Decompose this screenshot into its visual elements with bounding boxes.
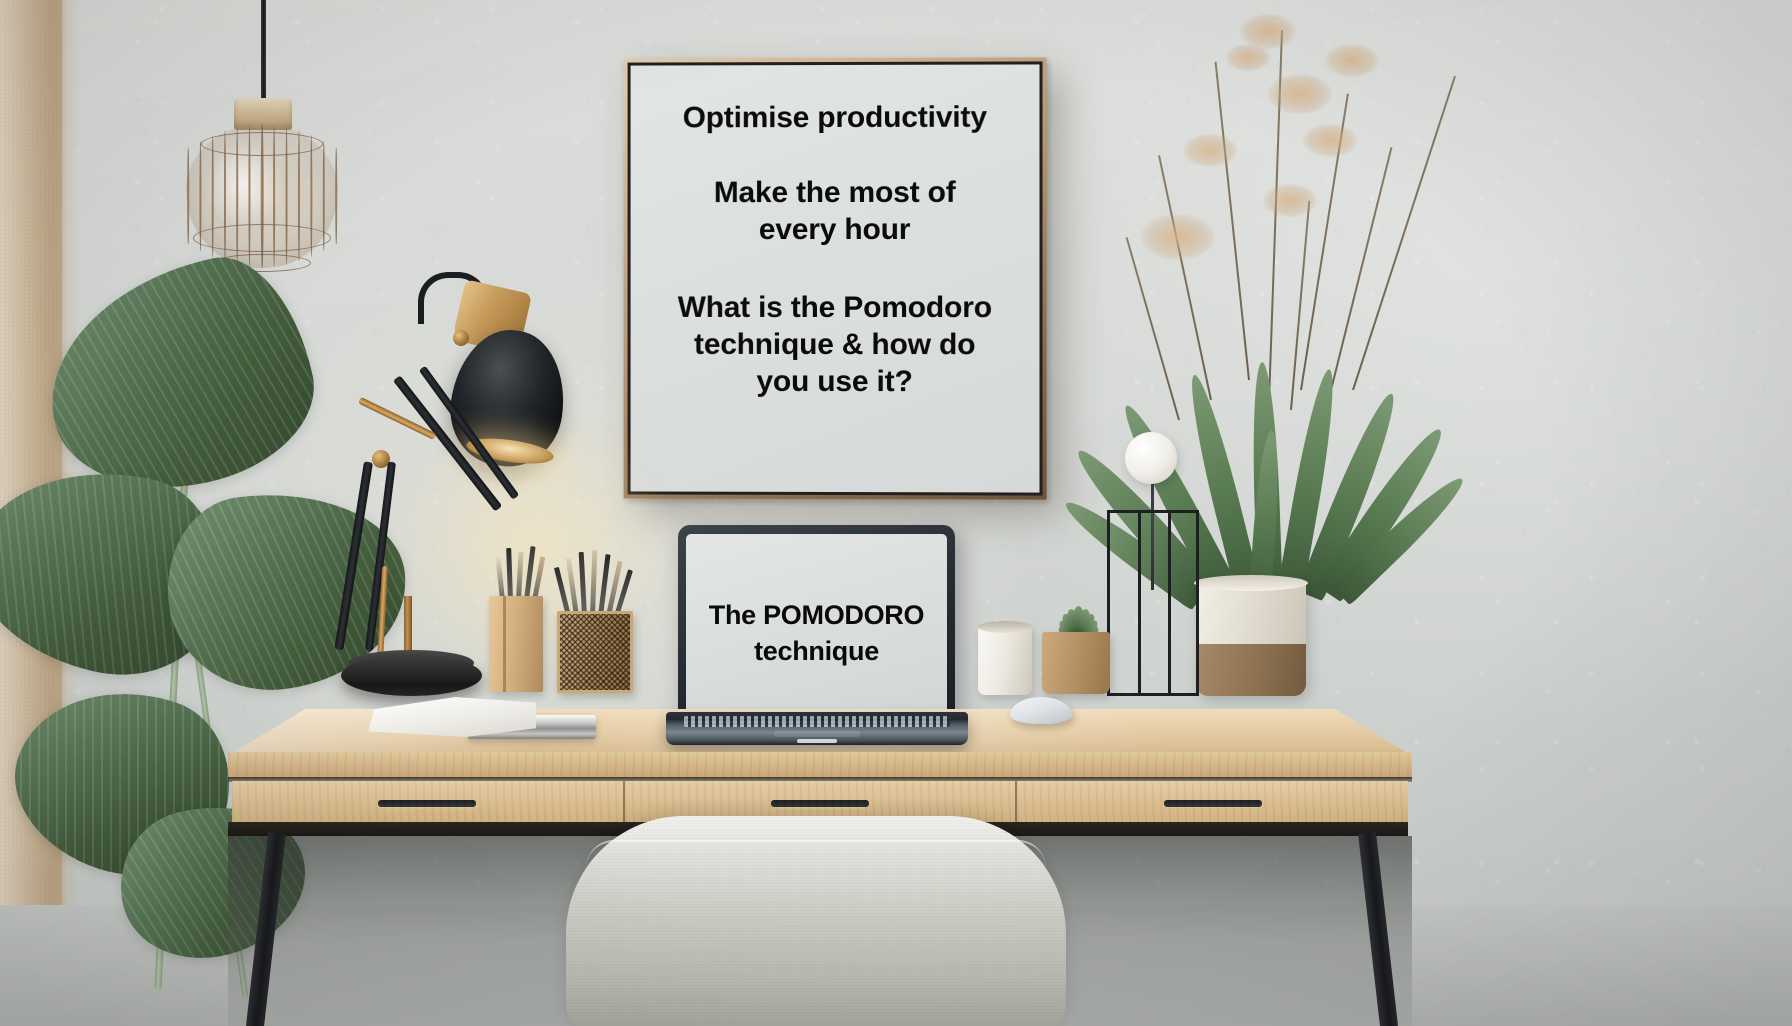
poster-face: Optimise productivity Make the most of e…: [631, 64, 1040, 492]
desk-front-edge: [228, 752, 1412, 778]
desk-lamp-joint: [453, 330, 469, 346]
laptop-trackpad[interactable]: [774, 731, 860, 737]
laptop-front-notch: [797, 739, 837, 743]
poster-line-4: What is the Pomodoro: [678, 289, 992, 326]
wire-frame-bar: [1138, 513, 1141, 693]
poster-line-1: Optimise productivity: [683, 99, 987, 137]
drawer-handle-icon[interactable]: [771, 800, 869, 807]
chair-seam: [586, 840, 1046, 868]
black-wire-geometric-frame: [1107, 510, 1199, 696]
framed-wall-poster[interactable]: Optimise productivity Make the most of e…: [624, 57, 1047, 499]
drawer-handle-icon[interactable]: [378, 800, 476, 807]
laptop-base[interactable]: [666, 712, 968, 745]
laptop-keyboard[interactable]: [684, 716, 950, 727]
pampas-plume: [1240, 14, 1296, 49]
pampas-plume: [1141, 214, 1215, 260]
mug-rim: [978, 621, 1032, 633]
white-ceramic-mug: [978, 625, 1032, 695]
pen-holder-groove: [503, 596, 506, 692]
pendant-cage-rib: [187, 148, 189, 243]
desk-drawer-right[interactable]: [1017, 781, 1408, 823]
wooden-pen-holder: [489, 596, 543, 692]
notebook-cloth-cover: [368, 697, 536, 737]
poster-line-2: Make the most of: [714, 174, 956, 211]
poster-line-5: technique & how do: [694, 326, 975, 363]
poster-line-6: you use it?: [757, 363, 913, 400]
desk-drawer-left[interactable]: [232, 781, 625, 823]
drawer-handle-icon[interactable]: [1164, 800, 1262, 807]
poster-line-3: every hour: [759, 211, 910, 248]
laptop-screen-line-2: technique: [754, 634, 879, 669]
pendant-cage-ring: [193, 224, 331, 252]
laptop-lid[interactable]: The POMODORO technique: [678, 525, 955, 715]
pendant-lamp-cord: [261, 0, 266, 104]
laptop-screen[interactable]: The POMODORO technique: [686, 534, 947, 711]
pendant-cage-rib: [335, 148, 337, 243]
pendant-lamp-cage: [186, 124, 338, 268]
laptop-screen-line-1: The POMODORO: [709, 598, 924, 633]
white-decorative-sphere: [1125, 432, 1177, 484]
large-pot-rim: [1194, 575, 1308, 591]
pendant-cage-ring: [201, 132, 323, 156]
notebook-stack: [368, 697, 598, 745]
large-pot-lower-band: [1196, 644, 1306, 696]
desk-lamp-base: [341, 655, 482, 696]
pampas-plume: [1268, 74, 1332, 114]
terracotta-pot: [1042, 632, 1110, 694]
mesh-pencil-cup: [557, 611, 633, 693]
wire-frame-bar: [1168, 513, 1171, 693]
upholstered-chair[interactable]: [566, 816, 1066, 1026]
scene-root: Optimise productivity Make the most of e…: [0, 0, 1792, 1026]
